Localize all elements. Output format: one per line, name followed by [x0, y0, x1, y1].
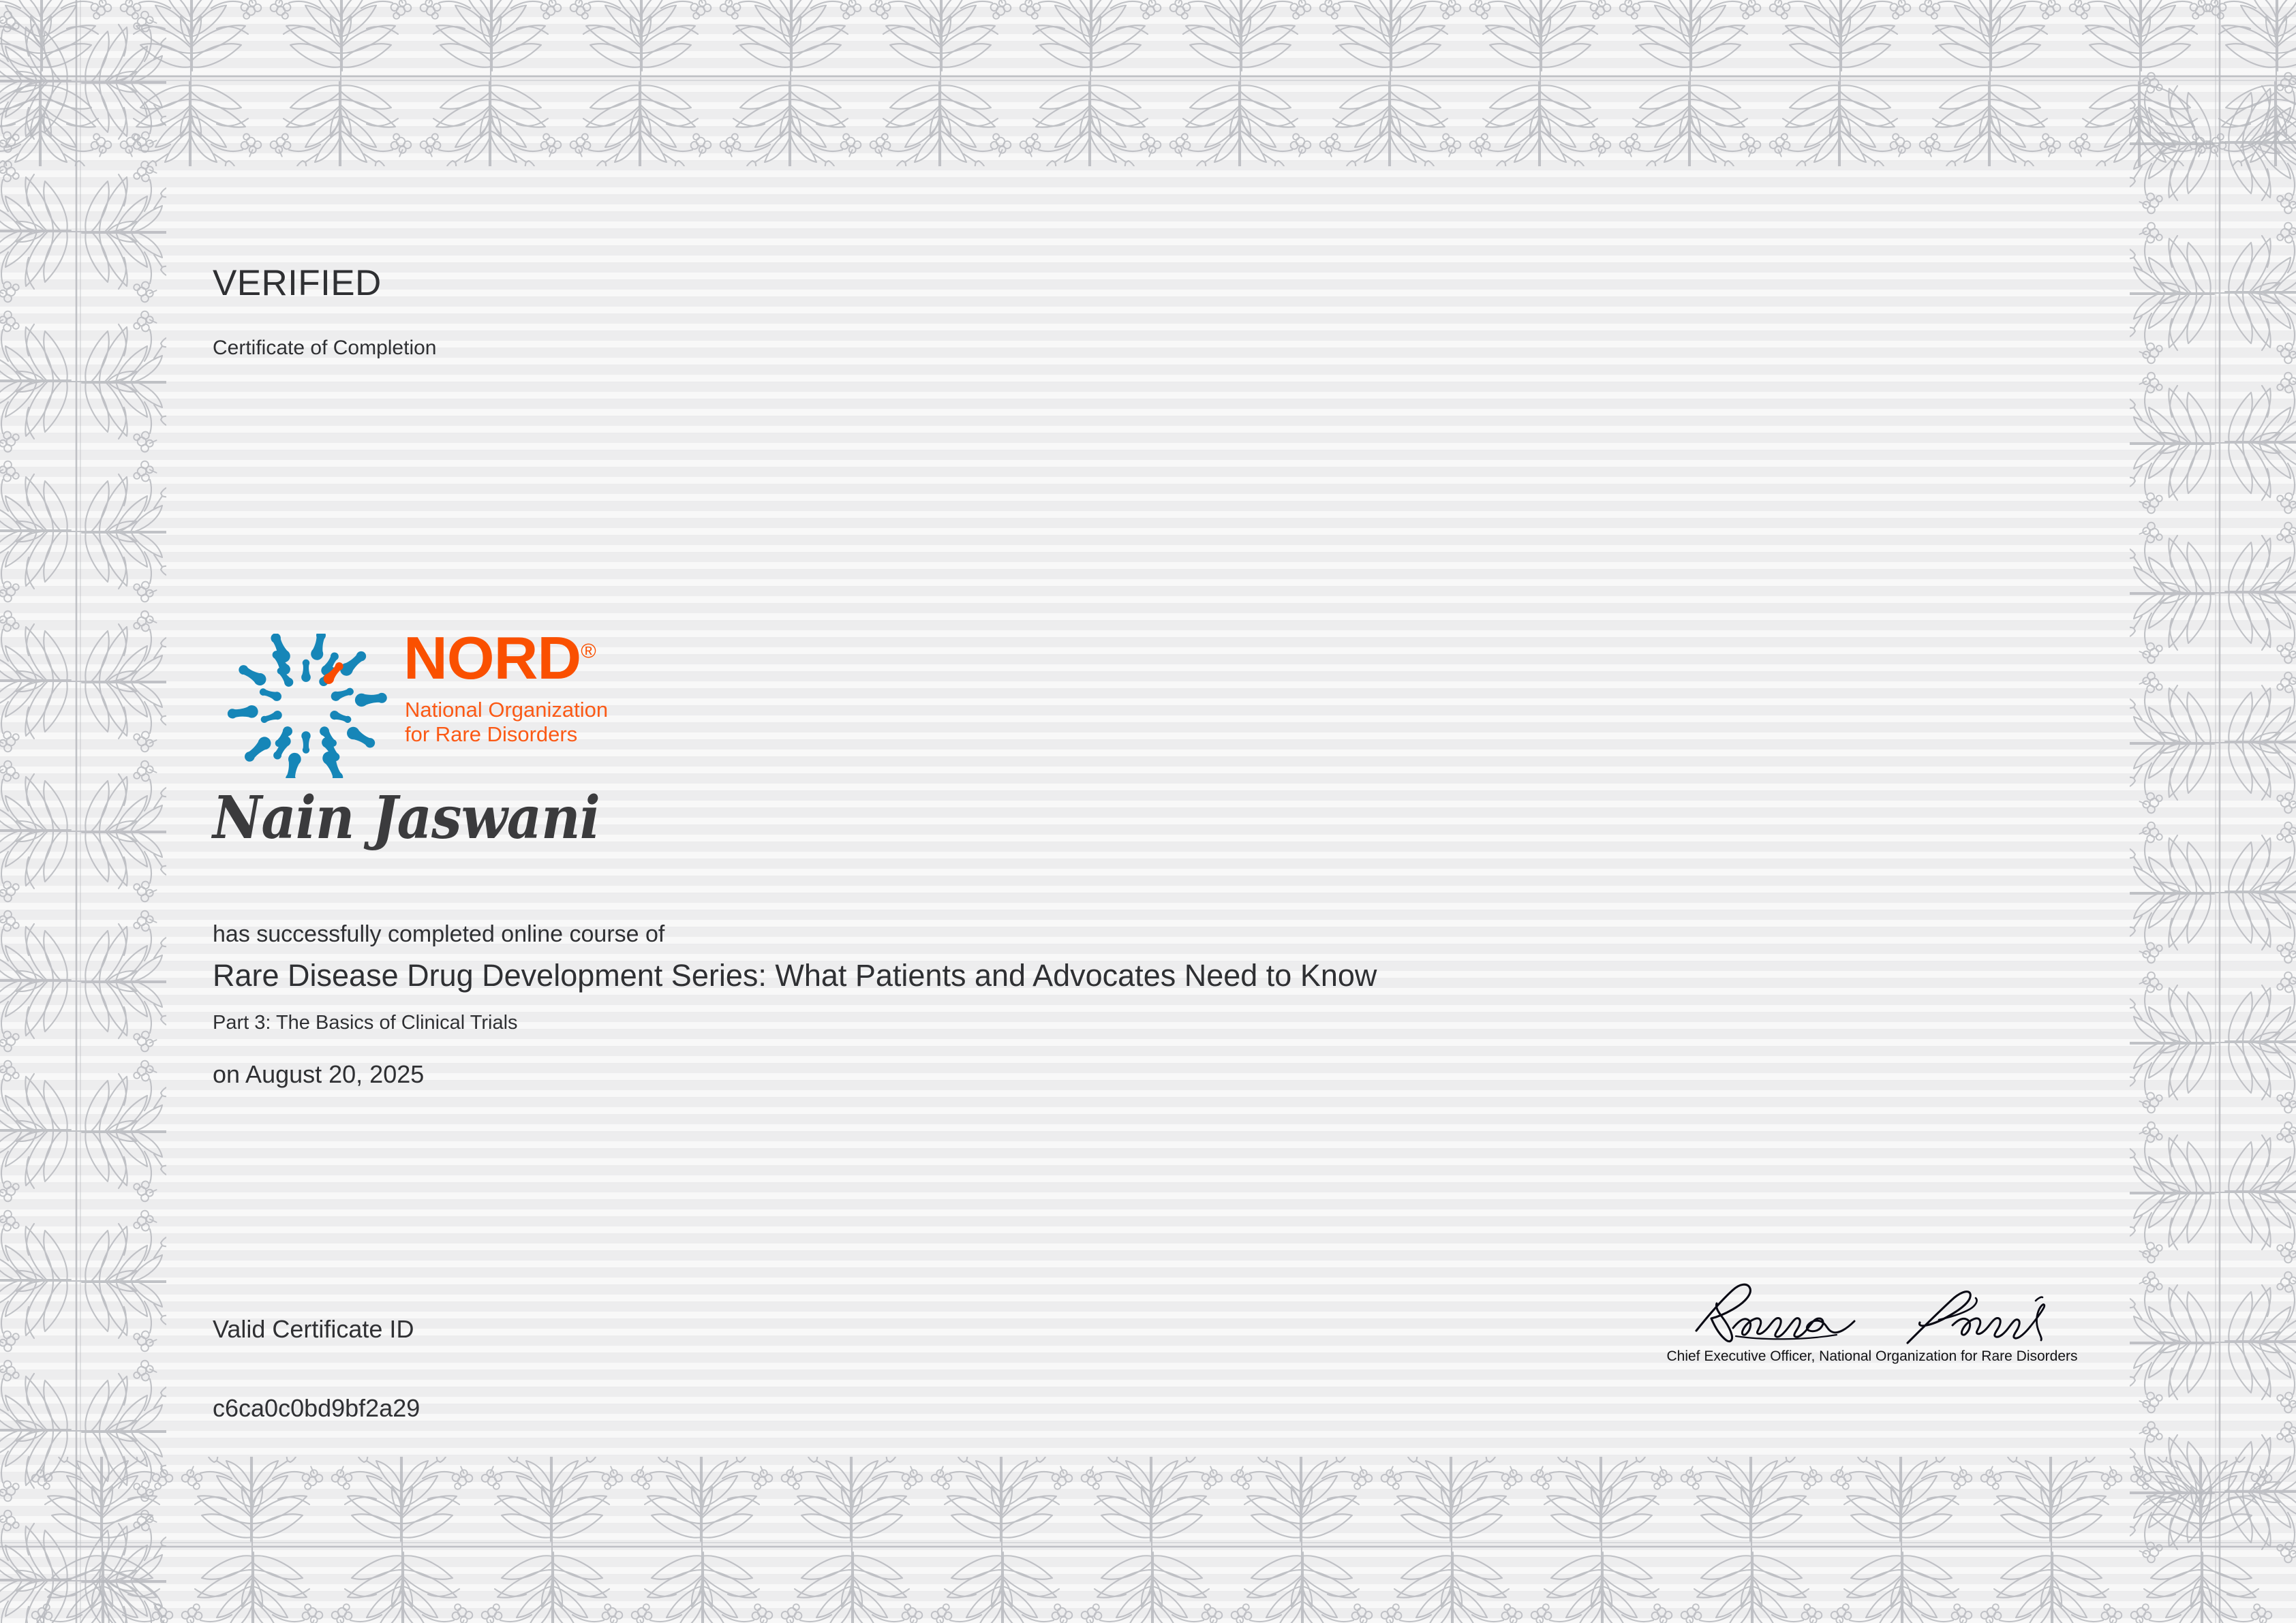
completion-date: on August 20, 2025: [213, 1060, 424, 1089]
signature-block: Chief Executive Officer, National Organi…: [1661, 1278, 2083, 1373]
nord-tagline: National Organization for Rare Disorders: [405, 698, 608, 747]
verified-label: VERIFIED: [213, 262, 382, 304]
certificate-id-label: Valid Certificate ID: [213, 1315, 414, 1344]
signature-icon: [1668, 1278, 2077, 1346]
course-title: Rare Disease Drug Development Series: Wh…: [213, 958, 1377, 993]
border-left: [0, 0, 166, 1623]
certificate-type-label: Certificate of Completion: [213, 337, 436, 360]
recipient-name: Nain Jaswani: [213, 789, 600, 848]
nord-wordmark-letters: NORD: [403, 624, 581, 692]
course-part-label: Part 3: The Basics of Clinical Trials: [213, 1012, 518, 1034]
completion-phrase: has successfully completed online course…: [213, 921, 664, 948]
nord-logo: NORD® National Organization for Rare Dis…: [213, 632, 635, 779]
nord-wordmark: NORD® National Organization for Rare Dis…: [403, 632, 635, 779]
registered-trademark-icon: ®: [581, 640, 596, 663]
certificate-content: VERIFIED Certificate of Completion: [213, 0, 2094, 1623]
nord-burst-icon: [214, 634, 398, 778]
border-right: [2130, 0, 2296, 1623]
signer-title: Chief Executive Officer, National Organi…: [1661, 1348, 2083, 1365]
certificate-page: VERIFIED Certificate of Completion: [0, 0, 2296, 1623]
certificate-id-value[interactable]: c6ca0c0bd9bf2a29: [213, 1394, 420, 1423]
nord-wordmark-text: NORD®: [403, 628, 596, 688]
